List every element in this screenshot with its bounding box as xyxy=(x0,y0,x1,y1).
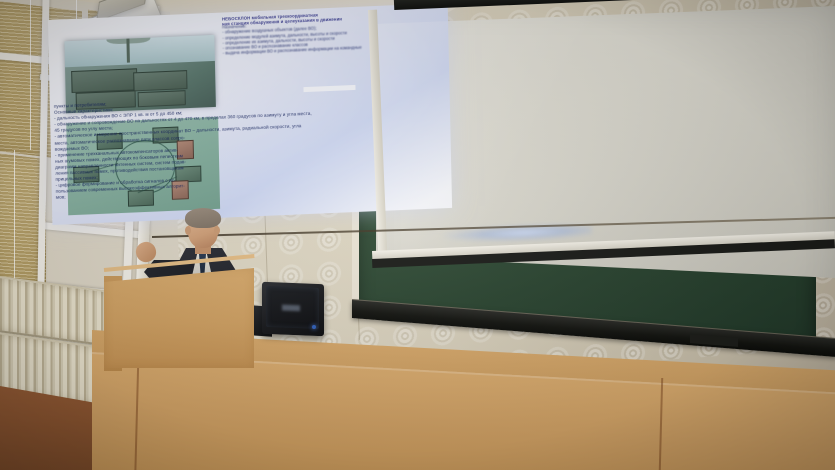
radar-mast xyxy=(126,37,130,63)
lecture-hall-photo: НЕБОСКЛОН мобильная трехкоординатная ная… xyxy=(0,0,835,470)
slide-body-block: пункты и потребителям; Основные характер… xyxy=(54,87,450,201)
blind-cord xyxy=(14,150,15,290)
wooden-podium xyxy=(104,268,254,368)
blind-cord xyxy=(30,0,31,150)
radar-vehicle xyxy=(133,70,187,91)
projected-slide: НЕБОСКЛОН мобильная трехкоординатная ная… xyxy=(48,3,452,225)
radar-vehicle xyxy=(71,68,137,93)
monitor-power-led xyxy=(312,325,316,329)
hair xyxy=(185,208,221,228)
monitor-glare xyxy=(282,305,300,312)
ear xyxy=(214,226,220,235)
ear xyxy=(185,226,191,235)
